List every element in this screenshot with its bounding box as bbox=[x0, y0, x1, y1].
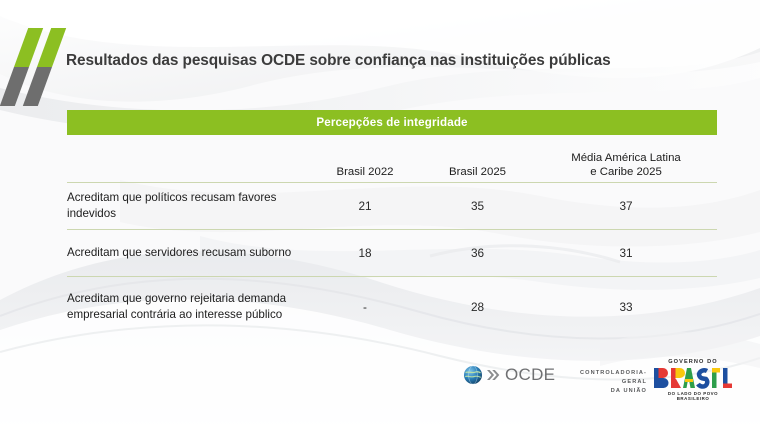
row-value-brasil-2022: 21 bbox=[310, 199, 420, 213]
row-value-media-alc-2025: 31 bbox=[535, 246, 717, 260]
table-column-headers: Brasil 2022 Brasil 2025 Média América La… bbox=[67, 135, 717, 182]
globe-icon bbox=[463, 365, 483, 385]
page-title: Resultados das pesquisas OCDE sobre conf… bbox=[66, 52, 706, 70]
brasil-wordmark-icon bbox=[653, 366, 733, 390]
ocde-logo: OCDE bbox=[463, 365, 555, 385]
chevron-mark-2-gray bbox=[23, 67, 52, 106]
row-value-brasil-2022: - bbox=[310, 300, 420, 314]
double-chevron-icon bbox=[486, 367, 502, 383]
chevron-mark-2-green bbox=[37, 28, 66, 67]
row-description: Acreditam que governo rejeitaria demanda… bbox=[67, 291, 310, 322]
cgu-logo: CONTROLADORIA-GERAL DA UNIÃO bbox=[555, 369, 647, 397]
row-description: Acreditam que servidores recusam suborno bbox=[67, 245, 310, 261]
row-value-brasil-2025: 35 bbox=[420, 199, 535, 213]
governo-do-brasil-logo: GOVERNO DO bbox=[651, 359, 735, 401]
row-value-media-alc-2025: 33 bbox=[535, 300, 717, 314]
row-value-media-alc-2025: 37 bbox=[535, 199, 717, 213]
column-header-brasil-2025: Brasil 2025 bbox=[420, 165, 535, 179]
chevron-decoration bbox=[6, 28, 62, 106]
table-band-label: Percepções de integridade bbox=[316, 116, 467, 129]
cgu-line-1: CONTROLADORIA-GERAL bbox=[555, 369, 647, 387]
table-band-header: Percepções de integridade bbox=[67, 110, 717, 135]
results-table: Percepções de integridade Brasil 2022 Br… bbox=[67, 110, 717, 337]
table-row: Acreditam que políticos recusam favores … bbox=[67, 183, 717, 229]
column-header-media-alc-2025: Média América Latina e Caribe 2025 bbox=[535, 151, 717, 180]
brasil-logo-bottom-text: DO LADO DO POVO BRASILEIRO bbox=[651, 391, 735, 401]
row-value-brasil-2025: 36 bbox=[420, 246, 535, 260]
column-header-brasil-2022: Brasil 2022 bbox=[310, 165, 420, 179]
row-description: Acreditam que políticos recusam favores … bbox=[67, 190, 310, 221]
footer-logos: OCDE CONTROLADORIA-GERAL DA UNIÃO GOVERN… bbox=[455, 357, 740, 409]
cgu-line-2: DA UNIÃO bbox=[555, 387, 647, 396]
table-row: Acreditam que governo rejeitaria demanda… bbox=[67, 277, 717, 337]
ocde-wordmark: OCDE bbox=[505, 365, 555, 385]
row-value-brasil-2025: 28 bbox=[420, 300, 535, 314]
brasil-logo-top-text: GOVERNO DO bbox=[651, 359, 735, 365]
row-value-brasil-2022: 18 bbox=[310, 246, 420, 260]
slide-canvas: Resultados das pesquisas OCDE sobre conf… bbox=[0, 0, 760, 427]
table-row: Acreditam que servidores recusam suborno… bbox=[67, 230, 717, 276]
